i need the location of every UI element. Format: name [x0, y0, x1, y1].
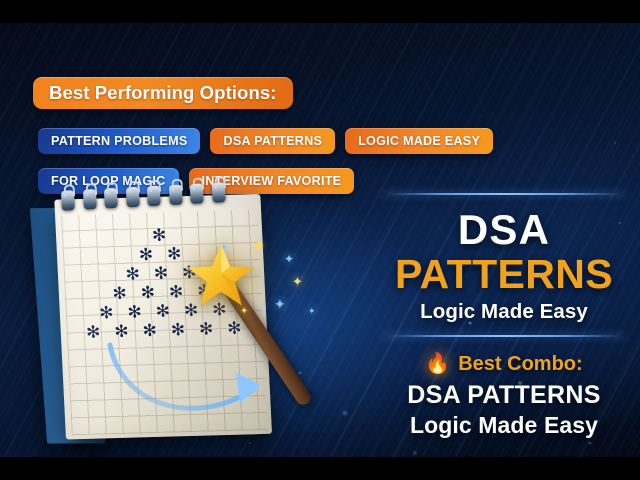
sparkle-icon: ✦	[284, 253, 294, 265]
combo-line-1: DSA PATTERNS	[378, 383, 630, 408]
hero-banner-label: Best Performing Options:	[49, 82, 277, 104]
tag-pattern-problems[interactable]: PATTERN PROBLEMS	[38, 128, 200, 154]
best-combo-row: 🔥 Best Combo:	[378, 353, 630, 376]
tag-row-1: PATTERN PROBLEMS DSA PATTERNS LOGIC MADE…	[38, 128, 493, 154]
curved-arrow-icon	[104, 311, 304, 431]
spiral-coil	[104, 188, 118, 209]
spiral-coil	[211, 182, 225, 203]
best-performing-options-banner: Best Performing Options:	[33, 77, 293, 109]
headline-line-patterns: PATTERNS	[378, 254, 630, 295]
spiral-coil	[168, 185, 182, 206]
fire-icon: 🔥	[425, 354, 450, 374]
sparkle-icon: ✦	[308, 307, 316, 316]
magic-wand-illustration: ✦ ✦ ✦ ✦ ✦ ✦ ✦	[196, 245, 346, 417]
letterbox-top	[0, 0, 640, 23]
tag-dsa-patterns[interactable]: DSA PATTERNS	[210, 128, 335, 154]
spiral-coil	[125, 187, 139, 208]
thumbnail-canvas: Best Performing Options: PATTERN PROBLEM…	[0, 0, 640, 480]
sparkle-icon: ✦	[252, 239, 265, 254]
sparkle-icon: ✦	[292, 275, 303, 288]
headline-divider-bottom	[382, 335, 626, 337]
headline-panel: DSA PATTERNS Logic Made Easy 🔥 Best Comb…	[378, 163, 630, 437]
letterbox-bottom	[0, 457, 640, 480]
best-combo-label: Best Combo:	[458, 353, 582, 376]
spiral-coil	[61, 190, 75, 211]
headline-line-dsa: DSA	[378, 209, 630, 251]
spiral-coil	[190, 183, 204, 204]
tag-logic-made-easy[interactable]: LOGIC MADE EASY	[345, 128, 493, 154]
spiral-coil	[147, 186, 161, 207]
artwork-area: Best Performing Options: PATTERN PROBLEM…	[0, 23, 640, 457]
headline-subtitle: Logic Made Easy	[378, 302, 630, 323]
combo-line-2: Logic Made Easy	[378, 414, 630, 437]
spiral-coil	[82, 189, 96, 210]
sparkle-icon: ✦	[220, 243, 228, 252]
sparkle-icon: ✦	[240, 307, 248, 317]
sparkle-icon: ✦	[274, 297, 286, 311]
